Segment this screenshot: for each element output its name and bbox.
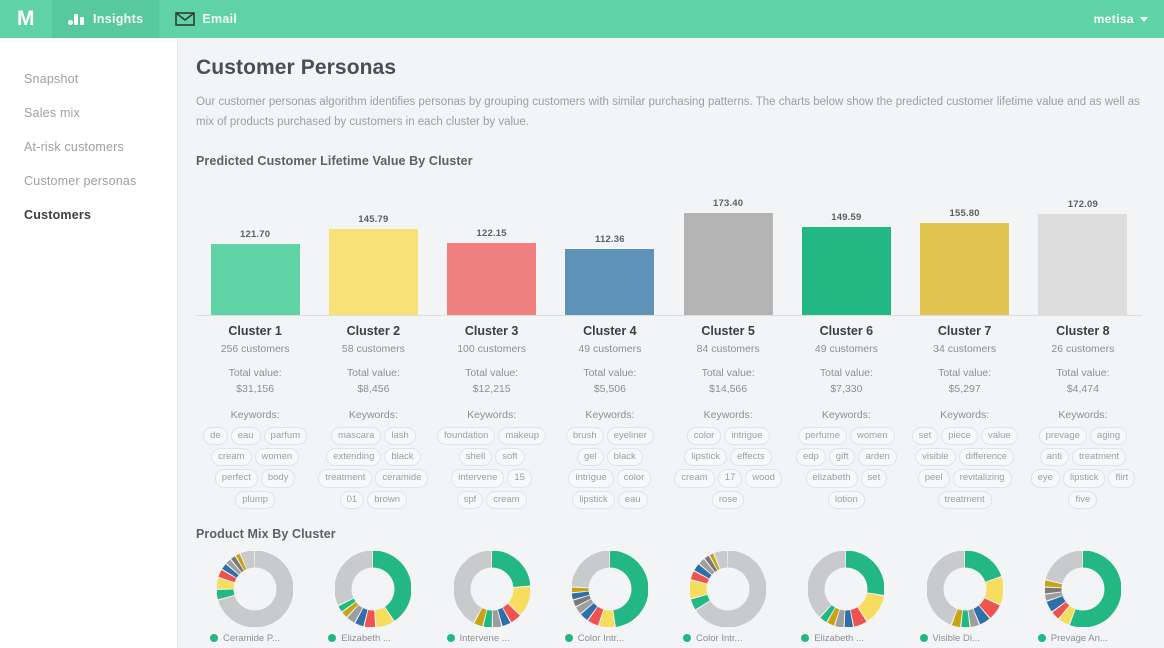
legend-item[interactable]: Color Intr... xyxy=(683,633,787,644)
top-navigation-bar: M Insights Email metisa xyxy=(0,0,1164,38)
sidebar-item-label: Sales mix xyxy=(24,106,80,120)
cluster-total-value: $5,506 xyxy=(555,382,665,398)
keyword-tag[interactable]: brush xyxy=(566,427,604,445)
donut-legend: Prevage An...Visible Di... xyxy=(1024,633,1142,648)
bar-value-label: 172.09 xyxy=(1068,199,1098,210)
cluster-total-value: $8,456 xyxy=(318,382,428,398)
keyword-tag[interactable]: intrigue xyxy=(568,469,613,487)
cluster-customer-count: 49 customers xyxy=(555,343,665,355)
keywords-label: Keywords: xyxy=(910,409,1020,421)
legend-color-dot xyxy=(210,634,218,642)
sidebar-item-label: At-risk customers xyxy=(24,140,124,154)
cluster-customer-count: 49 customers xyxy=(791,343,901,355)
cluster-total-value-label: Total value: xyxy=(555,366,665,382)
legend-item[interactable]: Elizabeth ... xyxy=(328,633,432,644)
keyword-tag[interactable]: mascara xyxy=(331,427,381,445)
legend-item[interactable]: Ceramide P... xyxy=(210,633,314,644)
donut-chart-card: Visible Di...Visible Di... xyxy=(906,551,1024,648)
keyword-tag[interactable]: 01 xyxy=(340,491,365,509)
legend-color-dot xyxy=(328,634,336,642)
bar-column[interactable]: 173.40 xyxy=(669,178,787,315)
cluster-detail-card: Cluster 584 customersTotal value:$14,566… xyxy=(669,324,787,509)
keyword-tag[interactable]: de xyxy=(203,427,228,445)
page-title: Customer Personas xyxy=(196,56,1142,80)
legend-label: Visible Di... xyxy=(933,633,980,644)
envelope-icon xyxy=(175,12,195,26)
donut-chart[interactable] xyxy=(808,551,884,627)
donut-section-title: Product Mix By Cluster xyxy=(196,527,1142,541)
bar-chart-section-title: Predicted Customer Lifetime Value By Clu… xyxy=(196,154,1142,168)
donut-chart[interactable] xyxy=(690,551,766,627)
cluster-customer-count: 26 customers xyxy=(1028,343,1138,355)
bar-column[interactable]: 155.80 xyxy=(906,178,1024,315)
bar-rect[interactable] xyxy=(565,249,654,315)
cluster-name: Cluster 1 xyxy=(200,324,310,338)
cluster-total-value: $4,474 xyxy=(1028,382,1138,398)
keyword-tag[interactable]: lash xyxy=(384,427,415,445)
cluster-name: Cluster 3 xyxy=(437,324,547,338)
sidebar-item-customers[interactable]: Customers xyxy=(0,198,177,232)
keyword-tag-list: brusheyelinergelblackintriguecolorlipsti… xyxy=(555,427,665,509)
keyword-tag[interactable]: aging xyxy=(1090,427,1127,445)
cluster-total-value-label: Total value: xyxy=(673,366,783,382)
keyword-tag[interactable]: spf xyxy=(457,491,484,509)
keyword-tag-list: perfumewomenedpgiftardenelizabethsetloti… xyxy=(791,427,901,509)
cluster-total-value-label: Total value: xyxy=(437,366,547,382)
legend-label: Intervene ... xyxy=(460,633,510,644)
keywords-label: Keywords: xyxy=(200,409,310,421)
keywords-label: Keywords: xyxy=(791,409,901,421)
keyword-tag[interactable]: eyeliner xyxy=(607,427,654,445)
keyword-tag[interactable]: treatment xyxy=(318,469,372,487)
legend-label: Elizabeth ... xyxy=(341,633,391,644)
keyword-tag[interactable]: black xyxy=(607,448,643,466)
sidebar-item-customer-personas[interactable]: Customer personas xyxy=(0,164,177,198)
cluster-total-value: $14,566 xyxy=(673,382,783,398)
bar-rect[interactable] xyxy=(211,244,300,316)
logo-m[interactable]: M xyxy=(0,0,52,38)
legend-label: Color Intr... xyxy=(578,633,624,644)
bar-rect[interactable] xyxy=(1038,214,1127,315)
cluster-detail-card: Cluster 649 customersTotal value:$7,330K… xyxy=(787,324,905,509)
keyword-tag[interactable]: intrigue xyxy=(724,427,769,445)
keyword-tag[interactable]: set xyxy=(912,427,939,445)
donut-chart-card: Prevage An...Visible Di... xyxy=(1024,551,1142,648)
keyword-tag[interactable]: brown xyxy=(367,491,407,509)
donut-legend: Elizabeth ...Red Door W... xyxy=(787,633,905,648)
keyword-tag-list: deeauparfumcreamwomenperfectbodyplump xyxy=(200,427,310,509)
bar-value-label: 149.59 xyxy=(831,212,861,223)
page-shell: SnapshotSales mixAt-risk customersCustom… xyxy=(0,38,1164,648)
sidebar-item-label: Customer personas xyxy=(24,174,136,188)
bar-column[interactable]: 149.59 xyxy=(787,178,905,315)
donut-chart-card: Color Intr...Double Den... xyxy=(551,551,669,648)
legend-label: Elizabeth ... xyxy=(814,633,864,644)
keyword-tag[interactable]: perfect xyxy=(215,469,258,487)
keyword-tag[interactable]: piece xyxy=(941,427,978,445)
legend-color-dot xyxy=(920,634,928,642)
donut-chart[interactable] xyxy=(335,551,411,627)
keyword-tag[interactable]: peel xyxy=(918,469,950,487)
keyword-tag[interactable]: flirt xyxy=(1108,469,1135,487)
cluster-total-value-label: Total value: xyxy=(318,366,428,382)
cluster-customer-count: 100 customers xyxy=(437,343,547,355)
keyword-tag[interactable]: cream xyxy=(674,469,714,487)
bar-value-label: 155.80 xyxy=(949,208,979,219)
keyword-tag[interactable]: five xyxy=(1068,491,1097,509)
donut-chart[interactable] xyxy=(1045,551,1121,627)
keyword-tag[interactable]: anti xyxy=(1040,448,1069,466)
keyword-tag[interactable]: revitalizing xyxy=(953,469,1012,487)
bar-column[interactable]: 121.70 xyxy=(196,178,314,315)
bar-value-label: 121.70 xyxy=(240,229,270,240)
keyword-tag[interactable]: shell xyxy=(459,448,493,466)
donut-chart-row: Ceramide P...Flawless F...Elizabeth ...C… xyxy=(196,551,1142,648)
keyword-tag[interactable]: arden xyxy=(858,448,896,466)
cluster-name: Cluster 2 xyxy=(318,324,428,338)
keyword-tag-list: prevageagingantitreatmenteyelipstickflir… xyxy=(1028,427,1138,509)
bar-rect[interactable] xyxy=(802,227,891,315)
bar-column[interactable]: 112.36 xyxy=(551,178,669,315)
cluster-total-value-label: Total value: xyxy=(1028,366,1138,382)
keyword-tag[interactable]: women xyxy=(850,427,895,445)
legend-label: Color Intr... xyxy=(696,633,742,644)
cluster-detail-card: Cluster 734 customersTotal value:$5,297K… xyxy=(906,324,1024,509)
clv-bar-chart: 121.70145.79122.15112.36173.40149.59155.… xyxy=(196,178,1142,316)
donut-legend: Color Intr...Color Intr... xyxy=(669,633,787,648)
donut-chart[interactable] xyxy=(454,551,530,627)
sidebar-item-label: Snapshot xyxy=(24,72,78,86)
keywords-label: Keywords: xyxy=(318,409,428,421)
keyword-tag[interactable]: prevage xyxy=(1039,427,1087,445)
bar-value-label: 173.40 xyxy=(713,198,743,209)
keyword-tag[interactable]: foundation xyxy=(437,427,495,445)
keyword-tag[interactable]: 17 xyxy=(718,469,743,487)
legend-item[interactable]: Elizabeth ... xyxy=(801,633,905,644)
nav-tab-email-label: Email xyxy=(202,12,237,26)
cluster-total-value: $7,330 xyxy=(791,382,901,398)
legend-item[interactable]: Color Intr... xyxy=(565,633,669,644)
cluster-customer-count: 256 customers xyxy=(200,343,310,355)
sidebar: SnapshotSales mixAt-risk customersCustom… xyxy=(0,38,178,648)
bar-value-label: 122.15 xyxy=(476,228,506,239)
cluster-detail-card: Cluster 3100 customersTotal value:$12,21… xyxy=(433,324,551,509)
cluster-detail-card: Cluster 449 customersTotal value:$5,506K… xyxy=(551,324,669,509)
cluster-name: Cluster 6 xyxy=(791,324,901,338)
user-menu-label: metisa xyxy=(1094,12,1134,26)
legend-color-dot xyxy=(801,634,809,642)
keyword-tag[interactable]: soft xyxy=(495,448,524,466)
keyword-tag[interactable]: value xyxy=(981,427,1018,445)
chevron-down-icon xyxy=(1140,17,1148,22)
cluster-name: Cluster 4 xyxy=(555,324,665,338)
keyword-tag[interactable]: treatment xyxy=(938,491,992,509)
legend-item[interactable]: Intervene ... xyxy=(447,633,551,644)
donut-chart[interactable] xyxy=(572,551,648,627)
bar-column[interactable]: 122.15 xyxy=(433,178,551,315)
donut-legend: Visible Di...Visible Di... xyxy=(906,633,1024,648)
keyword-tag[interactable]: plump xyxy=(235,491,275,509)
cluster-name: Cluster 7 xyxy=(910,324,1020,338)
keyword-tag[interactable]: eau xyxy=(231,427,261,445)
bar-column[interactable]: 172.09 xyxy=(1024,178,1142,315)
keyword-tag[interactable]: effects xyxy=(730,448,772,466)
nav-tab-insights[interactable]: Insights xyxy=(52,0,159,38)
keyword-tag[interactable]: lipstick xyxy=(1063,469,1106,487)
sidebar-item-label: Customers xyxy=(24,208,91,222)
keyword-tag[interactable]: elizabeth xyxy=(806,469,858,487)
keyword-tag-list: setpiecevaluevisibledifferencepeelrevita… xyxy=(910,427,1020,509)
bar-rect[interactable] xyxy=(447,243,536,315)
bar-chart-icon xyxy=(68,12,86,26)
legend-item[interactable]: Prevage An... xyxy=(1038,633,1142,644)
cluster-name: Cluster 5 xyxy=(673,324,783,338)
legend-color-dot xyxy=(565,634,573,642)
keyword-tag-list: foundationmakeupshellsoftintervene15spfc… xyxy=(437,427,547,509)
keyword-tag[interactable]: body xyxy=(261,469,296,487)
keyword-tag[interactable]: color xyxy=(687,427,722,445)
cluster-details-row: Cluster 1256 customersTotal value:$31,15… xyxy=(196,316,1142,509)
legend-item[interactable]: Visible Di... xyxy=(920,633,1024,644)
keyword-tag-list: colorintriguelipstickeffectscream17woodr… xyxy=(673,427,783,509)
cluster-detail-card: Cluster 258 customersTotal value:$8,456K… xyxy=(314,324,432,509)
keyword-tag[interactable]: extending xyxy=(326,448,381,466)
cluster-customer-count: 84 customers xyxy=(673,343,783,355)
keyword-tag[interactable]: cream xyxy=(486,491,526,509)
keyword-tag[interactable]: gel xyxy=(577,448,604,466)
keyword-tag[interactable]: makeup xyxy=(498,427,546,445)
legend-color-dot xyxy=(447,634,455,642)
legend-label: Prevage An... xyxy=(1051,633,1108,644)
keywords-label: Keywords: xyxy=(437,409,547,421)
donut-legend: Intervene ...Foundation... xyxy=(433,633,551,648)
main-content: Customer Personas Our customer personas … xyxy=(178,38,1164,648)
donut-chart[interactable] xyxy=(927,551,1003,627)
keyword-tag[interactable]: perfume xyxy=(798,427,847,445)
keyword-tag[interactable]: intervene xyxy=(451,469,504,487)
donut-chart-card: Ceramide P...Flawless F... xyxy=(196,551,314,648)
cluster-name: Cluster 8 xyxy=(1028,324,1138,338)
user-menu[interactable]: metisa xyxy=(1094,0,1148,38)
keyword-tag[interactable]: treatment xyxy=(1072,448,1126,466)
keyword-tag[interactable]: lipstick xyxy=(572,491,615,509)
keywords-label: Keywords: xyxy=(1028,409,1138,421)
bar-rect[interactable] xyxy=(329,229,418,315)
keyword-tag[interactable]: gift xyxy=(829,448,856,466)
keyword-tag[interactable]: black xyxy=(384,448,420,466)
bar-value-label: 112.36 xyxy=(595,234,625,245)
cluster-total-value: $31,156 xyxy=(200,382,310,398)
legend-color-dot xyxy=(1038,634,1046,642)
donut-chart-card: Intervene ...Foundation... xyxy=(433,551,551,648)
legend-color-dot xyxy=(683,634,691,642)
cluster-total-value-label: Total value: xyxy=(200,366,310,382)
cluster-total-value: $5,297 xyxy=(910,382,1020,398)
cluster-total-value: $12,215 xyxy=(437,382,547,398)
keyword-tag[interactable]: parfum xyxy=(264,427,308,445)
keywords-label: Keywords: xyxy=(555,409,665,421)
sidebar-item-at-risk-customers[interactable]: At-risk customers xyxy=(0,130,177,164)
sidebar-item-snapshot[interactable]: Snapshot xyxy=(0,62,177,96)
keyword-tag[interactable]: set xyxy=(861,469,888,487)
cluster-detail-card: Cluster 1256 customersTotal value:$31,15… xyxy=(196,324,314,509)
donut-legend: Elizabeth ...Ceramide L... xyxy=(314,633,432,648)
bar-rect[interactable] xyxy=(920,223,1009,315)
keyword-tag[interactable]: 15 xyxy=(507,469,532,487)
keyword-tag[interactable]: lipstick xyxy=(684,448,727,466)
legend-label: Ceramide P... xyxy=(223,633,280,644)
donut-chart-card: Color Intr...Color Intr... xyxy=(669,551,787,648)
nav-tab-email[interactable]: Email xyxy=(159,0,253,38)
keyword-tag[interactable]: edp xyxy=(796,448,826,466)
keyword-tag[interactable]: eye xyxy=(1031,469,1060,487)
keyword-tag[interactable]: wood xyxy=(745,469,782,487)
keywords-label: Keywords: xyxy=(673,409,783,421)
donut-chart-card: Elizabeth ...Red Door W... xyxy=(787,551,905,648)
keyword-tag[interactable]: women xyxy=(255,448,300,466)
keyword-tag[interactable]: color xyxy=(617,469,652,487)
donut-chart[interactable] xyxy=(217,551,293,627)
keyword-tag[interactable]: rose xyxy=(712,491,744,509)
keyword-tag[interactable]: difference xyxy=(959,448,1015,466)
page-description: Our customer personas algorithm identifi… xyxy=(196,92,1142,132)
cluster-customer-count: 58 customers xyxy=(318,343,428,355)
bar-rect[interactable] xyxy=(684,213,773,315)
product-mix-section: Product Mix By Cluster Ceramide P...Flaw… xyxy=(196,527,1142,648)
donut-legend: Color Intr...Double Den... xyxy=(551,633,669,648)
keyword-tag[interactable]: visible xyxy=(915,448,955,466)
bar-column[interactable]: 145.79 xyxy=(314,178,432,315)
cluster-total-value-label: Total value: xyxy=(791,366,901,382)
bar-value-label: 145.79 xyxy=(358,214,388,225)
cluster-detail-card: Cluster 826 customersTotal value:$4,474K… xyxy=(1024,324,1142,509)
cluster-customer-count: 34 customers xyxy=(910,343,1020,355)
keyword-tag[interactable]: cream xyxy=(211,448,251,466)
nav-tab-insights-label: Insights xyxy=(93,12,143,26)
donut-legend: Ceramide P...Flawless F... xyxy=(196,633,314,648)
keyword-tag-list: mascaralashextendingblacktreatmentcerami… xyxy=(318,427,428,509)
cluster-total-value-label: Total value: xyxy=(910,366,1020,382)
keyword-tag[interactable]: eau xyxy=(618,491,648,509)
sidebar-item-sales-mix[interactable]: Sales mix xyxy=(0,96,177,130)
donut-chart-card: Elizabeth ...Ceramide L... xyxy=(314,551,432,648)
keyword-tag[interactable]: ceramide xyxy=(375,469,428,487)
keyword-tag[interactable]: lotion xyxy=(828,491,865,509)
